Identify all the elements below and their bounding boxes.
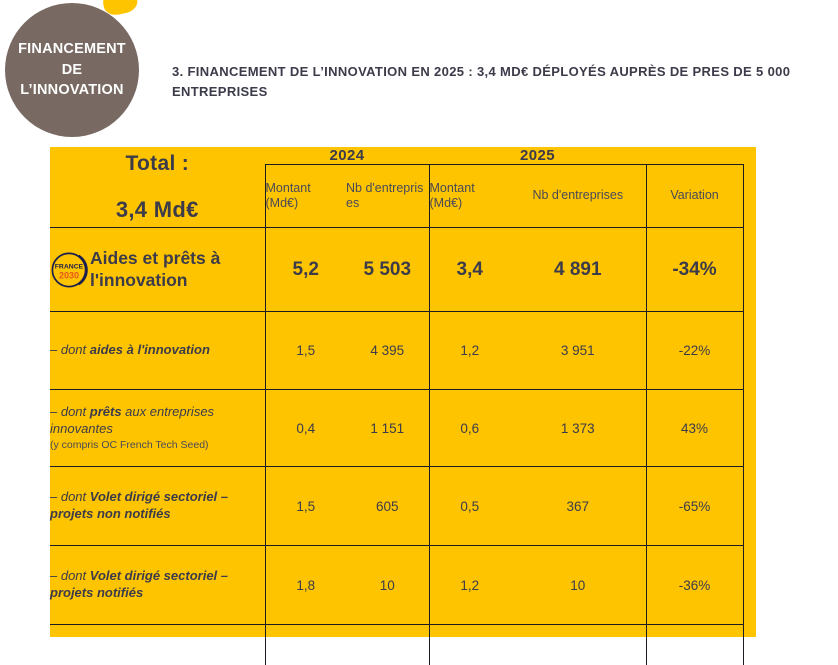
cell-nb-2024: 1 151 [346,390,429,467]
cell-variation: -65% [646,467,743,546]
partial-montant-2024 [265,625,346,665]
total-value: 3,4 Md€ [50,197,265,223]
france-2030-logo: FRANCE 2030 [50,251,88,289]
table-row: FRANCE 2030 Aides et prêts à l'innovatio… [50,228,743,312]
cell-nb-2025: 367 [510,467,646,546]
row-prefix: – dont [50,342,90,357]
row-prefix: – dont [50,568,90,583]
cell-montant-2024: 1,5 [265,467,346,546]
total-label: Total : [50,151,265,177]
table-row: – dont Volet dirigé sectoriel – projets … [50,467,743,546]
page-title: 3. FINANCEMENT DE L’INNOVATION EN 2025 :… [172,62,812,102]
partial-nb-2024 [346,625,429,665]
cell-nb-2025: 10 [510,546,646,625]
row-label-volet-non-notifies: – dont Volet dirigé sectoriel – projets … [50,467,265,546]
cell-montant-2025: 1,2 [429,312,510,390]
cell-nb-2025: 3 951 [510,312,646,390]
cell-montant-2024: 5,2 [265,228,346,312]
row-emph: aides à l'innovation [90,342,210,357]
cell-montant-2024: 1,5 [265,312,346,390]
row-label-text: Aides et prêts à l'innovation [90,248,220,289]
cell-montant-2024: 0,4 [265,390,346,467]
total-cell: Total : 3,4 Md€ [50,147,265,228]
year-header-2025: 2025 [429,147,646,165]
year-header-spacer [646,147,743,165]
cell-variation: -34% [646,228,743,312]
cell-variation: 43% [646,390,743,467]
subheader-montant-2024: Montant (Md€) [265,165,346,228]
table-header-years-row: Total : 3,4 Md€ 2024 2025 [50,147,743,165]
svg-text:2030: 2030 [59,270,79,280]
svg-text:FRANCE: FRANCE [55,263,84,270]
row-label-prets-entreprises: – dont prêts aux entreprises innovantes … [50,390,265,467]
table-row: – dont Volet dirigé sectoriel – projets … [50,546,743,625]
partial-nb-2025 [510,625,646,665]
subheader-montant-2025: Montant (Md€) [429,165,510,228]
cell-variation: -36% [646,546,743,625]
table-row: – dont prêts aux entreprises innovantes … [50,390,743,467]
partial-montant-2025 [429,625,510,665]
cell-nb-2024: 5 503 [346,228,429,312]
badge-circle: FINANCEMENT DE L’INNOVATION [5,3,139,137]
row-label-aides-prets: FRANCE 2030 Aides et prêts à l'innovatio… [50,228,265,312]
subheader-nb-2025: Nb d'entreprises [510,165,646,228]
year-header-2024: 2024 [265,147,429,165]
badge-label: FINANCEMENT DE L’INNOVATION [18,39,126,101]
financing-table: Total : 3,4 Md€ 2024 2025 Montant (Md€) … [50,147,744,665]
table-row: – dont aides à l'innovation 1,5 4 395 1,… [50,312,743,390]
row-label-volet-notifies: – dont Volet dirigé sectoriel – projets … [50,546,265,625]
cell-nb-2025: 1 373 [510,390,646,467]
cell-montant-2025: 1,2 [429,546,510,625]
table-row-partial [50,625,743,665]
cell-variation: -22% [646,312,743,390]
subheader-variation: Variation [646,165,743,228]
cell-montant-2025: 0,5 [429,467,510,546]
cell-montant-2024: 1,8 [265,546,346,625]
cell-nb-2024: 605 [346,467,429,546]
row-emph: prêts [90,404,122,419]
row-label-aides-innovation: – dont aides à l'innovation [50,312,265,390]
subheader-nb-2024: Nb d'entrepris es [346,165,429,228]
cell-nb-2025: 4 891 [510,228,646,312]
partial-label [50,625,265,665]
row-prefix: – dont [50,489,90,504]
row-note: (y compris OC French Tech Seed) [50,439,265,452]
section-badge: FINANCEMENT DE L’INNOVATION [0,0,150,142]
row-prefix: – dont [50,404,90,419]
cell-nb-2024: 10 [346,546,429,625]
cell-montant-2025: 3,4 [429,228,510,312]
partial-variation [646,625,743,665]
cell-nb-2024: 4 395 [346,312,429,390]
cell-montant-2025: 0,6 [429,390,510,467]
financing-table-panel: Total : 3,4 Md€ 2024 2025 Montant (Md€) … [50,147,756,637]
